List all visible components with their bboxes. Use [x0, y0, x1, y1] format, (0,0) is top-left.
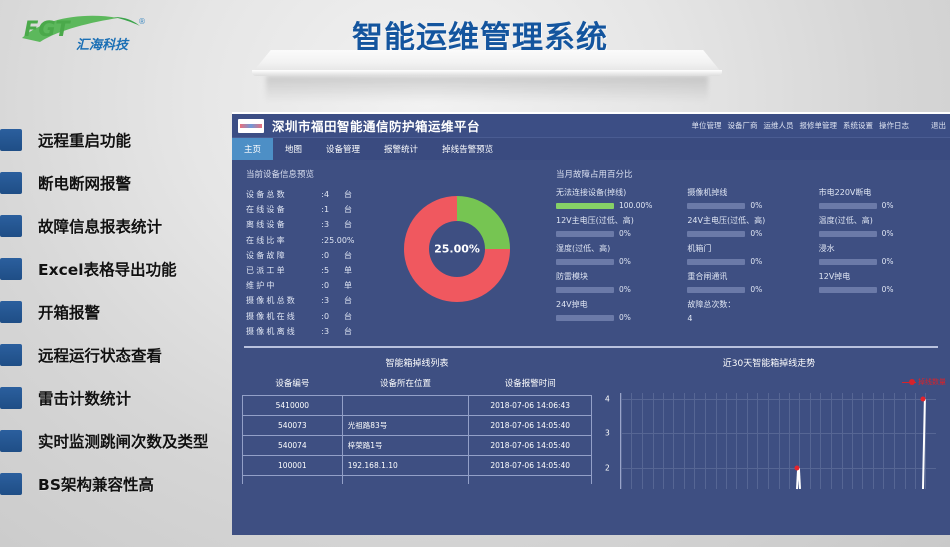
table-row[interactable]: 540073 光祖路83号 2018-07-06 14:05:40: [243, 416, 592, 436]
y-axis-tick: 4: [605, 394, 610, 403]
stat-unit: 台: [344, 202, 364, 217]
stat-unit: 台: [344, 217, 364, 232]
stat-value: 3: [324, 324, 344, 339]
chart-legend[interactable]: 掉线数量: [902, 377, 946, 387]
bullet-label: 实时监测跳闸次数及类型: [38, 430, 209, 452]
column-header-alarm-time: 设备报警时间: [469, 375, 592, 396]
table-row[interactable]: 5410000 2018-07-06 14:06:43: [243, 396, 592, 416]
stat-value: 1: [324, 202, 344, 217]
device-stats-list: 设备总数: 4 台 在线设备: 1 台 离线设备: 3 台: [246, 187, 364, 339]
stat-label: 已派工单: [246, 263, 287, 278]
stat-value: 25.00%: [324, 233, 355, 248]
stat-value: 3: [324, 217, 344, 232]
bullet-label: 断电断网报警: [38, 172, 131, 194]
bullet-square-icon: [0, 172, 22, 194]
fault-total: 故障总次数： 4: [687, 299, 808, 323]
fault-percent: 0%: [619, 313, 631, 322]
table-row-partial: [243, 476, 592, 484]
stat-label: 摄像机总数: [246, 293, 297, 308]
cell-alarm-time: 2018-07-06 14:05:40: [469, 456, 592, 476]
fault-progress-bar: [819, 287, 877, 293]
bullet-square-icon: [0, 344, 22, 366]
stat-value: 4: [324, 187, 344, 202]
cell-device-location: 192.168.1.10: [342, 456, 469, 476]
column-header-device-location: 设备所在位置: [342, 375, 469, 396]
fault-name: 无法连接设备(掉线): [556, 187, 677, 198]
top-nav-menu[interactable]: 单位管理 设备厂商 运维人员 报修单管理 系统设置 操作日志 退出: [692, 120, 950, 131]
fault-percent: 0%: [750, 229, 762, 238]
cell-device-id: 5410000: [243, 396, 343, 416]
fault-item: 24V掉电 0%: [556, 299, 677, 323]
bullet-square-icon: [0, 129, 22, 151]
fault-name: 湿度(过低、高): [556, 243, 677, 254]
trend-chart-area: 掉线数量 4 3 2: [598, 383, 940, 503]
bullet-label: 故障信息报表统计: [38, 215, 162, 237]
stat-unit: 台: [344, 309, 364, 324]
fault-item: 12V掉电 0%: [819, 271, 940, 294]
column-header-device-id: 设备编号: [243, 375, 343, 396]
dashboard-bottom-section: 智能箱掉线列表 设备编号 设备所在位置 设备报警时间 5410000: [242, 356, 940, 521]
stat-row: 设备故障: 0 台: [246, 248, 364, 263]
fault-total-label: 故障总次数：: [687, 299, 808, 310]
legend-dot-icon: [909, 379, 915, 385]
fault-percent: 0%: [882, 201, 894, 210]
list-item: Excel表格导出功能: [0, 247, 250, 290]
bullet-label: 远程运行状态查看: [38, 344, 162, 366]
fault-name: 温度(过低、高): [819, 215, 940, 226]
stat-value: 5: [324, 263, 344, 278]
list-item: 开箱报警: [0, 290, 250, 333]
tab-map[interactable]: 地图: [273, 138, 314, 160]
monthly-fault-panel: 当月故障占用百分比 无法连接设备(掉线) 100.00% 摄像机掉线 0%: [550, 168, 940, 340]
fault-name: 机箱门: [687, 243, 808, 254]
stat-row: 离线设备: 3 台: [246, 217, 364, 232]
bullet-square-icon: [0, 258, 22, 280]
legend-label: 掉线数量: [918, 377, 946, 387]
stat-row: 摄像机总数: 3 台: [246, 293, 364, 308]
cell-device-location: 梓荣路1号: [342, 436, 469, 456]
bullet-square-icon: [0, 301, 22, 323]
fault-progress-bar: [556, 203, 614, 209]
stat-row: 已派工单: 5 单: [246, 263, 364, 278]
stat-unit: 台: [344, 248, 364, 263]
table-header-row: 设备编号 设备所在位置 设备报警时间: [243, 375, 592, 396]
fault-percent: 0%: [619, 285, 631, 294]
stat-row: 维护中: 0 单: [246, 278, 364, 293]
tab-home[interactable]: 主页: [232, 138, 273, 160]
bullet-square-icon: [0, 430, 22, 452]
stat-row: 摄像机在线: 0 台: [246, 309, 364, 324]
application-window: 深圳市福田智能通信防护箱运维平台 单位管理 设备厂商 运维人员 报修单管理 系统…: [232, 112, 950, 535]
bullet-label: 开箱报警: [38, 301, 100, 323]
fault-progress-bar: [556, 287, 614, 293]
fault-item: 24V主电压(过低、高) 0%: [687, 215, 808, 238]
stat-unit: 台: [344, 324, 364, 339]
list-item: 故障信息报表统计: [0, 204, 250, 247]
fault-percent: 0%: [750, 257, 762, 266]
fault-percent: 0%: [750, 201, 762, 210]
fault-name: 浸水: [819, 243, 940, 254]
list-item: 雷击计数统计: [0, 376, 250, 419]
fault-progress-bar: [819, 231, 877, 237]
app-title: 深圳市福田智能通信防护箱运维平台: [272, 116, 480, 135]
stat-value: 0: [324, 248, 344, 263]
stat-label: 在线设备: [246, 202, 287, 217]
fault-name: 重合闸通讯: [687, 271, 808, 282]
fgt-logo: FGT ® 汇海科技: [14, 8, 164, 54]
stat-label: 在线比率: [246, 233, 287, 248]
fault-panel-title: 当月故障占用百分比: [556, 168, 940, 180]
fault-percent: 0%: [882, 285, 894, 294]
fault-progress-bar: [819, 203, 877, 209]
stat-label: 摄像机在线: [246, 309, 297, 324]
topnav-item-logs[interactable]: 操作日志: [879, 120, 909, 131]
stat-label: 设备故障: [246, 248, 287, 263]
chart-data-point[interactable]: [921, 396, 926, 401]
fault-progress-bar: [556, 259, 614, 265]
fault-item: 防雷模块 0%: [556, 271, 677, 294]
list-item: 断电断网报警: [0, 161, 250, 204]
fault-item: 摄像机掉线 0%: [687, 187, 808, 210]
fault-progress-bar: [556, 231, 614, 237]
cell-device-location: 光祖路83号: [342, 416, 469, 436]
tab-alarm-statistics[interactable]: 报警统计: [372, 138, 430, 160]
offline-device-table-panel: 智能箱掉线列表 设备编号 设备所在位置 设备报警时间 5410000: [242, 356, 592, 521]
fault-percent: 0%: [619, 257, 631, 266]
offline-table-title: 智能箱掉线列表: [242, 356, 592, 369]
svg-text:FGT: FGT: [24, 17, 71, 41]
stat-value: 3: [324, 293, 344, 308]
device-stats-panel: 当前设备信息预览 设备总数: 4 台 在线设备: 1 台 离线设备: 3: [242, 168, 364, 340]
fault-percent: 0%: [619, 229, 631, 238]
fault-name: 24V掉电: [556, 299, 677, 310]
stat-label: 摄像机离线: [246, 324, 297, 339]
cell-device-id: 540073: [243, 416, 343, 436]
laptop-shelf-graphic: [252, 50, 722, 80]
stat-row: 在线比率: 25.00%: [246, 233, 364, 248]
app-topbar: 深圳市福田智能通信防护箱运维平台 单位管理 设备厂商 运维人员 报修单管理 系统…: [232, 114, 950, 138]
dashboard-top-section: 当前设备信息预览 设备总数: 4 台 在线设备: 1 台 离线设备: 3: [242, 168, 940, 340]
fault-item: 温度(过低、高) 0%: [819, 215, 940, 238]
stat-unit: 单: [344, 263, 364, 278]
fault-item: 浸水 0%: [819, 243, 940, 266]
fault-grid: 无法连接设备(掉线) 100.00% 摄像机掉线 0%: [556, 187, 940, 323]
fault-percent: 100.00%: [619, 201, 652, 210]
cell-device-location: [342, 396, 469, 416]
stat-unit: 单: [344, 278, 364, 293]
svg-text:汇海科技: 汇海科技: [76, 37, 130, 53]
fault-item: 机箱门 0%: [687, 243, 808, 266]
cell-alarm-time: 2018-07-06 14:05:40: [469, 416, 592, 436]
device-stats-title: 当前设备信息预览: [246, 168, 364, 180]
logout-button[interactable]: 退出: [931, 120, 946, 131]
fault-item: 重合闸通讯 0%: [687, 271, 808, 294]
topnav-item-repair-orders[interactable]: 报修单管理: [800, 120, 838, 131]
table-row[interactable]: 540074 梓荣路1号 2018-07-06 14:05:40: [243, 436, 592, 456]
fault-name: 摄像机掉线: [687, 187, 808, 198]
offline-device-table: 设备编号 设备所在位置 设备报警时间 5410000 2018-07-06 14…: [242, 375, 592, 484]
stat-label: 维护中: [246, 278, 277, 293]
list-item: 远程运行状态查看: [0, 333, 250, 376]
section-divider: [244, 346, 938, 348]
app-logo-icon: [238, 119, 264, 133]
tab-bar[interactable]: 主页 地图 设备管理 报警统计 掉线告警预览: [232, 138, 950, 160]
stat-row: 在线设备: 1 台: [246, 202, 364, 217]
offline-trend-chart-panel: 近30天智能箱掉线走势 掉线数量 4 3 2: [592, 356, 940, 521]
bullet-square-icon: [0, 215, 22, 237]
stat-label: 离线设备: [246, 217, 287, 232]
table-row[interactable]: 100001 192.168.1.10 2018-07-06 14:05:40: [243, 456, 592, 476]
topnav-item-vendor[interactable]: 设备厂商: [728, 120, 758, 131]
trend-chart-title: 近30天智能箱掉线走势: [598, 356, 940, 369]
cell-device-id: 540074: [243, 436, 343, 456]
list-item: BS架构兼容性高: [0, 462, 250, 505]
fault-name: 12V主电压(过低、高): [556, 215, 677, 226]
fault-percent: 0%: [882, 257, 894, 266]
stat-row: 设备总数: 4 台: [246, 187, 364, 202]
svg-text:®: ®: [138, 17, 146, 26]
fault-total-value: 4: [687, 314, 808, 323]
fault-percent: 0%: [882, 229, 894, 238]
tab-offline-alarm-preview[interactable]: 掉线告警预览: [430, 138, 505, 160]
chart-plot-area: 4 3 2: [620, 393, 936, 489]
bullet-label: 雷击计数统计: [38, 387, 131, 409]
fault-progress-bar: [556, 315, 614, 321]
fault-progress-bar: [687, 203, 745, 209]
list-item: 实时监测跳闸次数及类型: [0, 419, 250, 462]
fault-name: 24V主电压(过低、高): [687, 215, 808, 226]
stat-unit: 台: [344, 293, 364, 308]
topnav-item-settings[interactable]: 系统设置: [843, 120, 873, 131]
bullet-label: BS架构兼容性高: [38, 473, 154, 495]
fault-progress-bar: [687, 231, 745, 237]
fault-name: 防雷模块: [556, 271, 677, 282]
donut-graphic: 25.00%: [404, 196, 510, 302]
fault-item: 无法连接设备(掉线) 100.00%: [556, 187, 677, 210]
cell-alarm-time: 2018-07-06 14:06:43: [469, 396, 592, 416]
stat-value: 0: [324, 278, 344, 293]
donut-center-label: 25.00%: [434, 243, 480, 256]
chart-data-point[interactable]: [795, 465, 800, 470]
stat-label: 设备总数: [246, 187, 287, 202]
y-axis-tick: 3: [605, 429, 610, 438]
y-axis-tick: 2: [605, 463, 610, 472]
bullet-label: 远程重启功能: [38, 129, 131, 151]
fault-progress-bar: [687, 259, 745, 265]
cell-alarm-time: 2018-07-06 14:05:40: [469, 436, 592, 456]
stat-value: 0: [324, 309, 344, 324]
cell-device-id: 100001: [243, 456, 343, 476]
fault-progress-bar: [687, 287, 745, 293]
fault-item: 市电220V断电 0%: [819, 187, 940, 210]
bullet-label: Excel表格导出功能: [38, 258, 177, 280]
fault-name: 市电220V断电: [819, 187, 940, 198]
list-item: 远程重启功能: [0, 118, 250, 161]
tab-device-management[interactable]: 设备管理: [314, 138, 372, 160]
fault-name: 12V掉电: [819, 271, 940, 282]
bullet-square-icon: [0, 387, 22, 409]
stat-row: 摄像机离线: 3 台: [246, 324, 364, 339]
feature-bullet-list: 远程重启功能 断电断网报警 故障信息报表统计 Excel表格导出功能 开箱报警 …: [0, 118, 250, 505]
topnav-item-staff[interactable]: 运维人员: [764, 120, 794, 131]
online-ratio-donut-chart: 25.00%: [364, 168, 550, 340]
fault-item: 12V主电压(过低、高) 0%: [556, 215, 677, 238]
fault-item: 湿度(过低、高) 0%: [556, 243, 677, 266]
bullet-square-icon: [0, 473, 22, 495]
topnav-item-unit[interactable]: 单位管理: [692, 120, 722, 131]
fault-percent: 0%: [750, 285, 762, 294]
stat-unit: 台: [344, 187, 364, 202]
fault-progress-bar: [819, 259, 877, 265]
